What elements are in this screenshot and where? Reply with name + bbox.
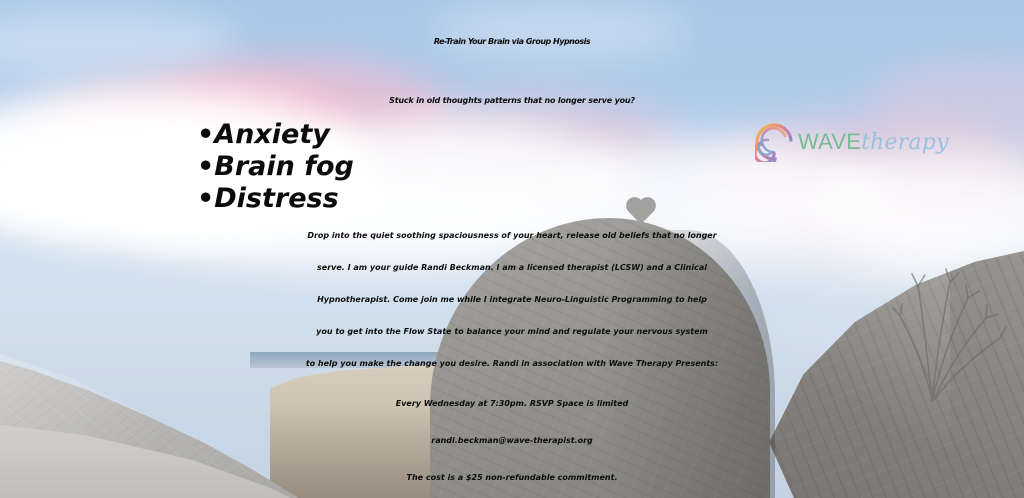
event-cost-line: The cost is a $25 non-refundable commitm… <box>0 459 1024 496</box>
body-line: you to get into the Flow State to balanc… <box>0 316 1024 348</box>
hypnosis-event-flyer: Re-Train Your Brain via Group Hypnosis S… <box>0 0 1024 498</box>
page-title: Re-Train Your Brain via Group Hypnosis <box>0 17 1024 67</box>
body-paragraph: Drop into the quiet soothing spaciousnes… <box>0 220 1024 380</box>
symptom-bullet-list: •Anxiety •Brain fog •Distress <box>197 119 354 215</box>
body-line: serve. I am your guide Randi Beckman. I … <box>0 252 1024 284</box>
wave-therapy-logo[interactable]: WAVEtherapy <box>755 122 949 162</box>
list-item: •Anxiety <box>197 119 354 151</box>
body-line: to help you make the change you desire. … <box>0 348 1024 380</box>
subtitle: Stuck in old thoughts patterns that no l… <box>0 86 1024 116</box>
wave-spiral-icon <box>755 122 795 162</box>
logo-wave-text: WAVE <box>798 129 861 155</box>
body-line: Drop into the quiet soothing spaciousnes… <box>0 220 1024 252</box>
logo-therapy-text: therapy <box>861 130 949 155</box>
contact-email[interactable]: randi.beckman@wave-therapist.org <box>0 422 1024 459</box>
event-details: Every Wednesday at 7:30pm. RSVP Space is… <box>0 385 1024 496</box>
body-line: Hypnotherapist. Come join me while I int… <box>0 284 1024 316</box>
flyer-text-layer: Re-Train Your Brain via Group Hypnosis S… <box>0 0 1024 498</box>
list-item: •Brain fog <box>197 151 354 183</box>
event-schedule-line: Every Wednesday at 7:30pm. RSVP Space is… <box>0 385 1024 422</box>
list-item: •Distress <box>197 183 354 215</box>
